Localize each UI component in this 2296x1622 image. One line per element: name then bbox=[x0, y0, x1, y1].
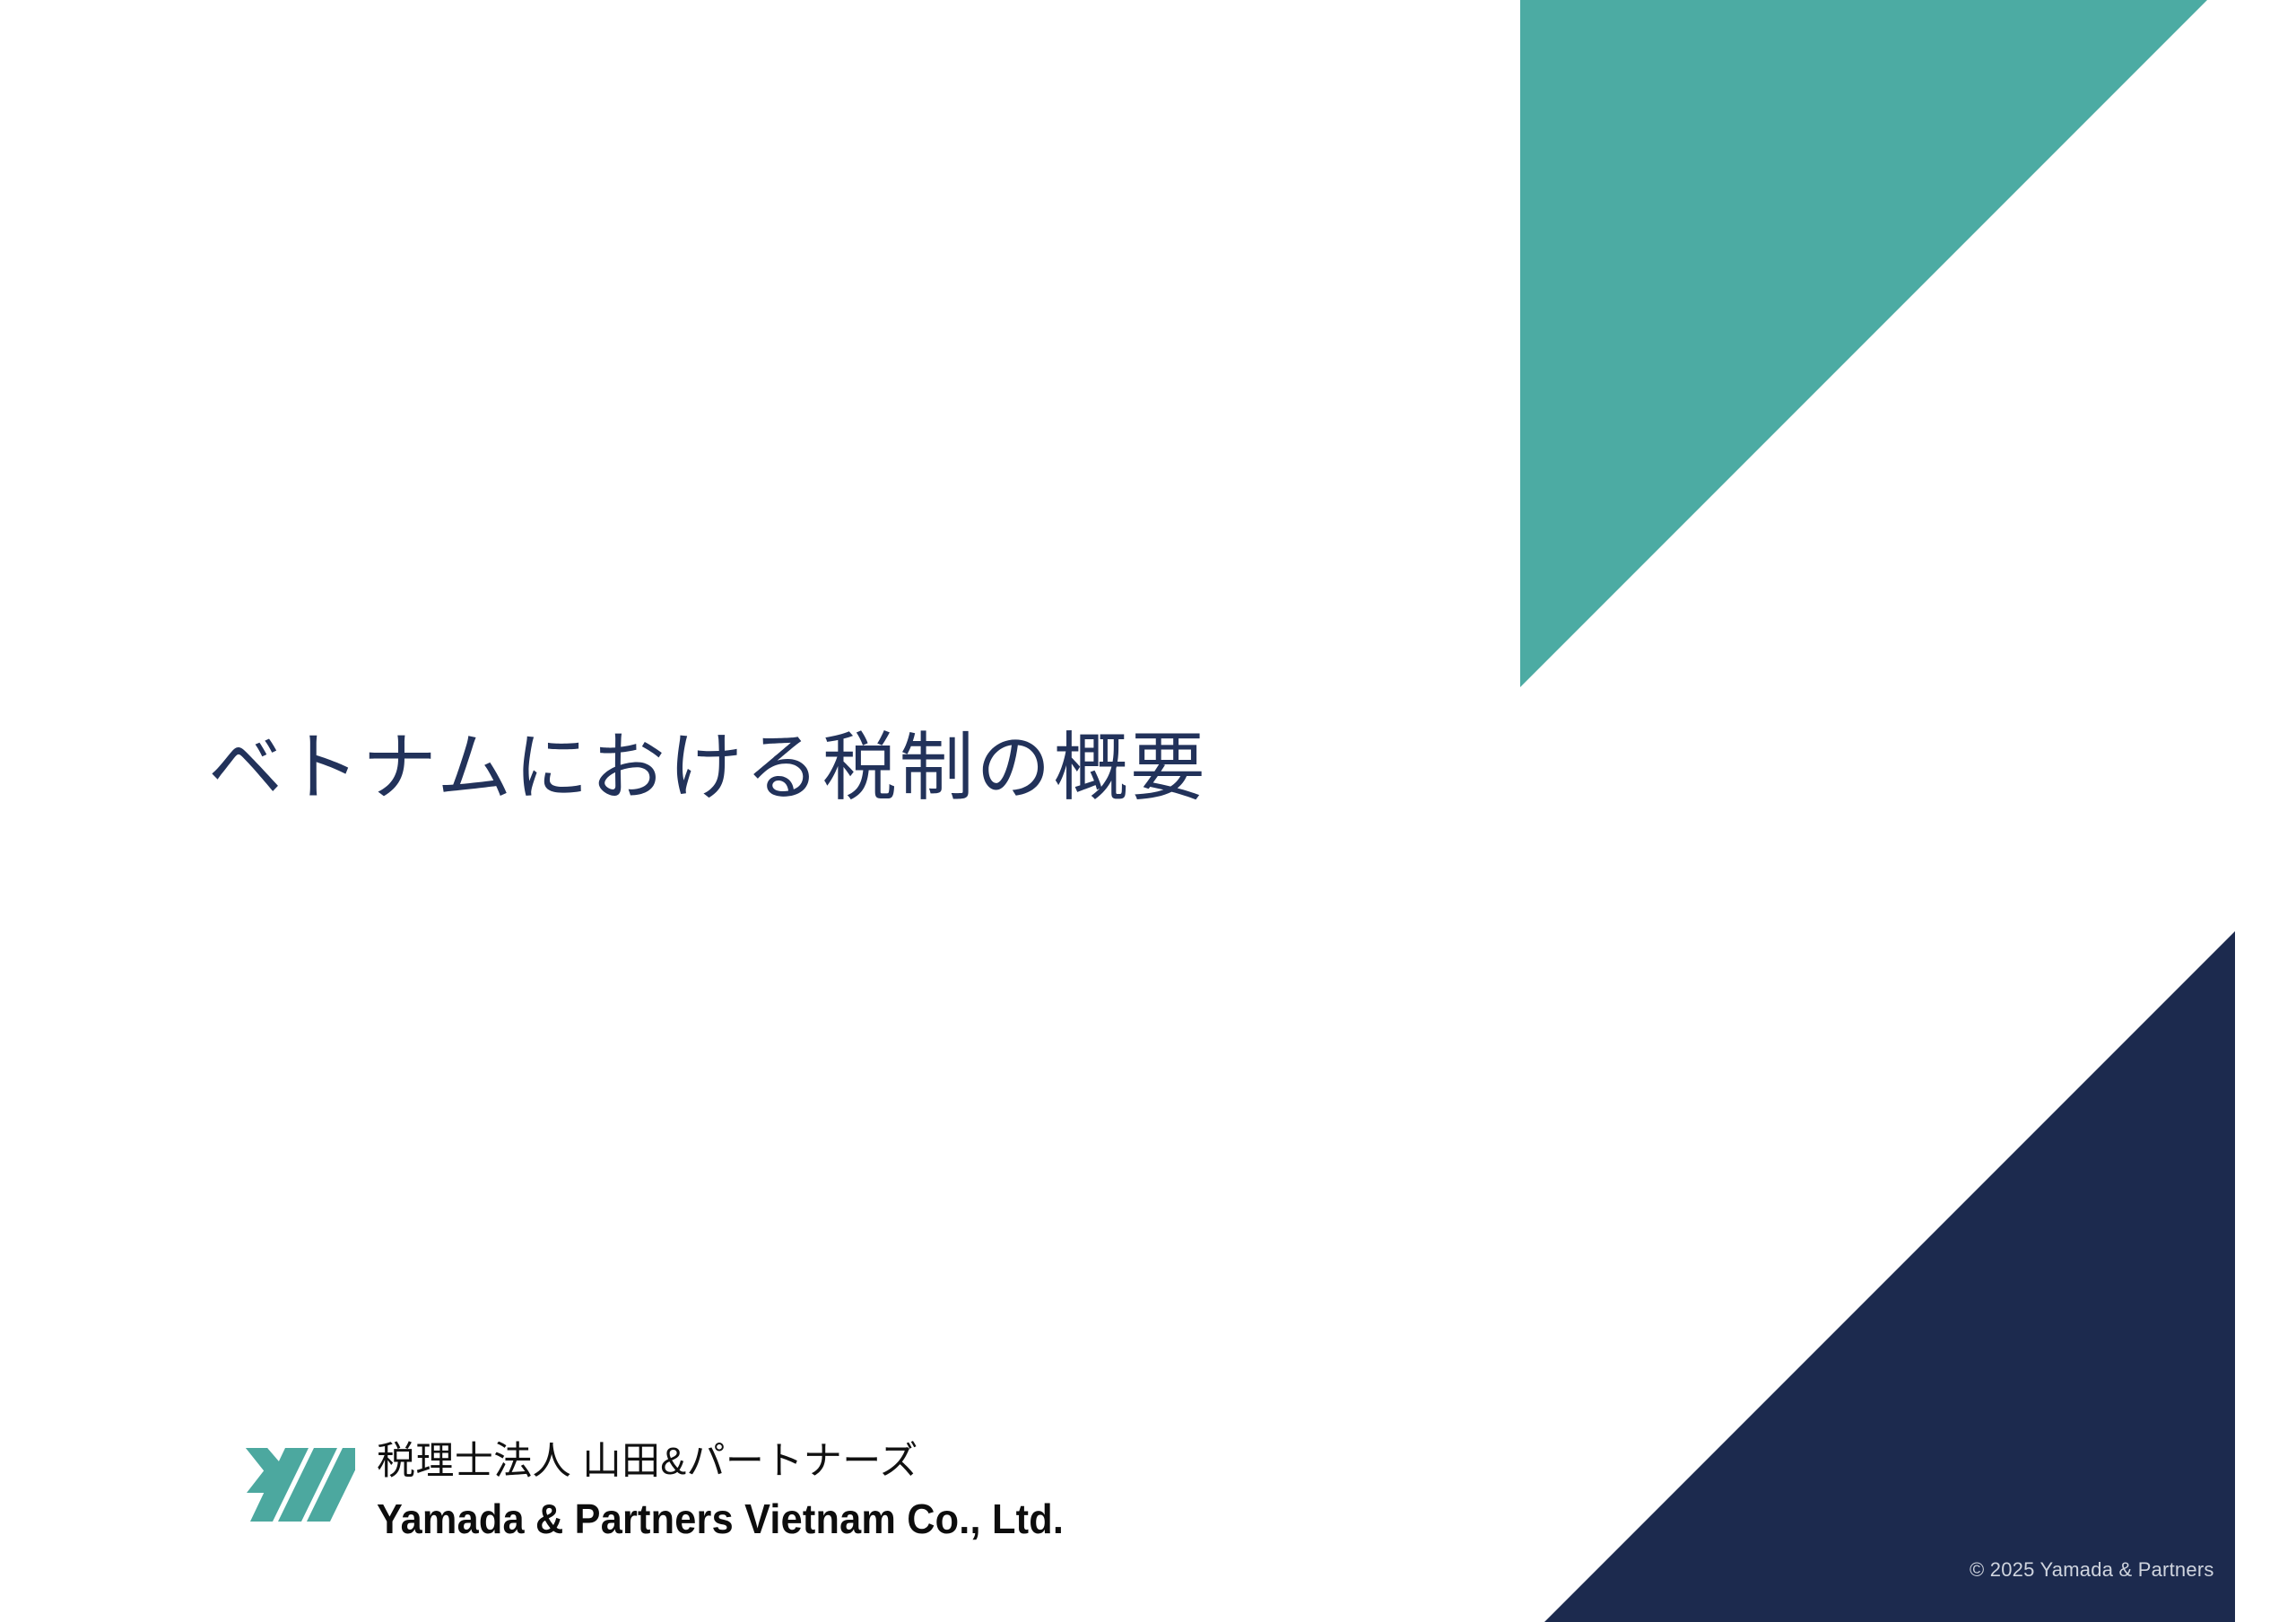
copyright-notice: © 2025 Yamada & Partners bbox=[1970, 1558, 2214, 1582]
yamada-partners-logo-mark bbox=[244, 1446, 355, 1523]
title-slide: ベトナムにおける税制の概要 税理士法人 山田&パートナーズ Yamada & P… bbox=[0, 0, 2296, 1622]
logo-text-group: 税理士法人 山田&パートナーズ Yamada & Partners Vietna… bbox=[377, 1441, 1108, 1541]
logo-lockup: 税理士法人 山田&パートナーズ Yamada & Partners Vietna… bbox=[244, 1441, 1108, 1541]
company-name-japanese: 税理士法人 山田&パートナーズ bbox=[377, 1441, 1108, 1483]
teal-triangle-decoration bbox=[1520, 0, 2207, 687]
slide-title: ベトナムにおける税制の概要 bbox=[208, 724, 1207, 812]
company-name-english: Yamada & Partners Vietnam Co., Ltd. bbox=[377, 1497, 1064, 1540]
navy-triangle-decoration bbox=[1544, 931, 2235, 1622]
